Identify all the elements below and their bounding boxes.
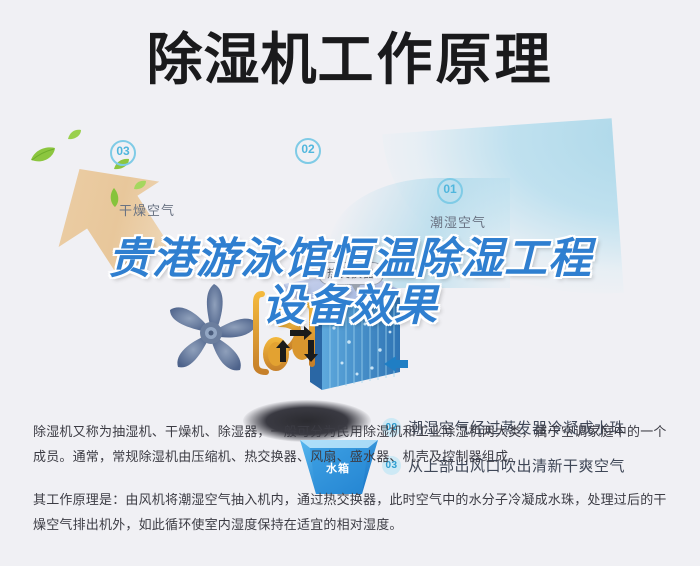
dry-air-label: 干燥空气 <box>119 200 175 219</box>
paragraph-2: 其工作原理是：由风机将潮湿空气抽入机内，通过热交换器，此时空气中的水分子冷凝成水… <box>33 487 673 537</box>
page-title-part1: 除湿机 <box>147 28 318 91</box>
badge-01-humid-air: 01 <box>437 178 463 204</box>
page-title: 除湿机工作原理 <box>0 28 700 92</box>
dehumidifier-machine-graphic <box>250 268 412 418</box>
body-copy: 除湿机又称为抽湿机、干燥机、除湿器，一般可分为民用除湿机和工业除湿机两大类，属于… <box>33 419 673 537</box>
paragraph-1: 除湿机又称为抽湿机、干燥机、除湿器，一般可分为民用除湿机和工业除湿机两大类，属于… <box>33 419 673 469</box>
leaf-icon <box>133 178 147 196</box>
heat-exchanger-label: 热交换器 <box>327 268 375 280</box>
leaf-icon <box>67 128 82 146</box>
humid-air-label: 潮湿空气 <box>430 212 486 231</box>
leaf-icon <box>30 146 56 169</box>
dehumidifier-infographic: 除湿机工作原理 <box>0 0 700 566</box>
page-title-part2: 工作原理 <box>318 28 554 91</box>
illustration-stage: 水箱 03 干燥空气 02 热交换器 01 潮湿空气 02 潮湿空气经过蒸发器冷… <box>0 118 700 388</box>
heat-exchanger-callout: 热交换器 <box>318 262 384 285</box>
badge-03-dry-air: 03 <box>110 140 136 166</box>
badge-02-heat-exchanger: 02 <box>295 138 321 164</box>
